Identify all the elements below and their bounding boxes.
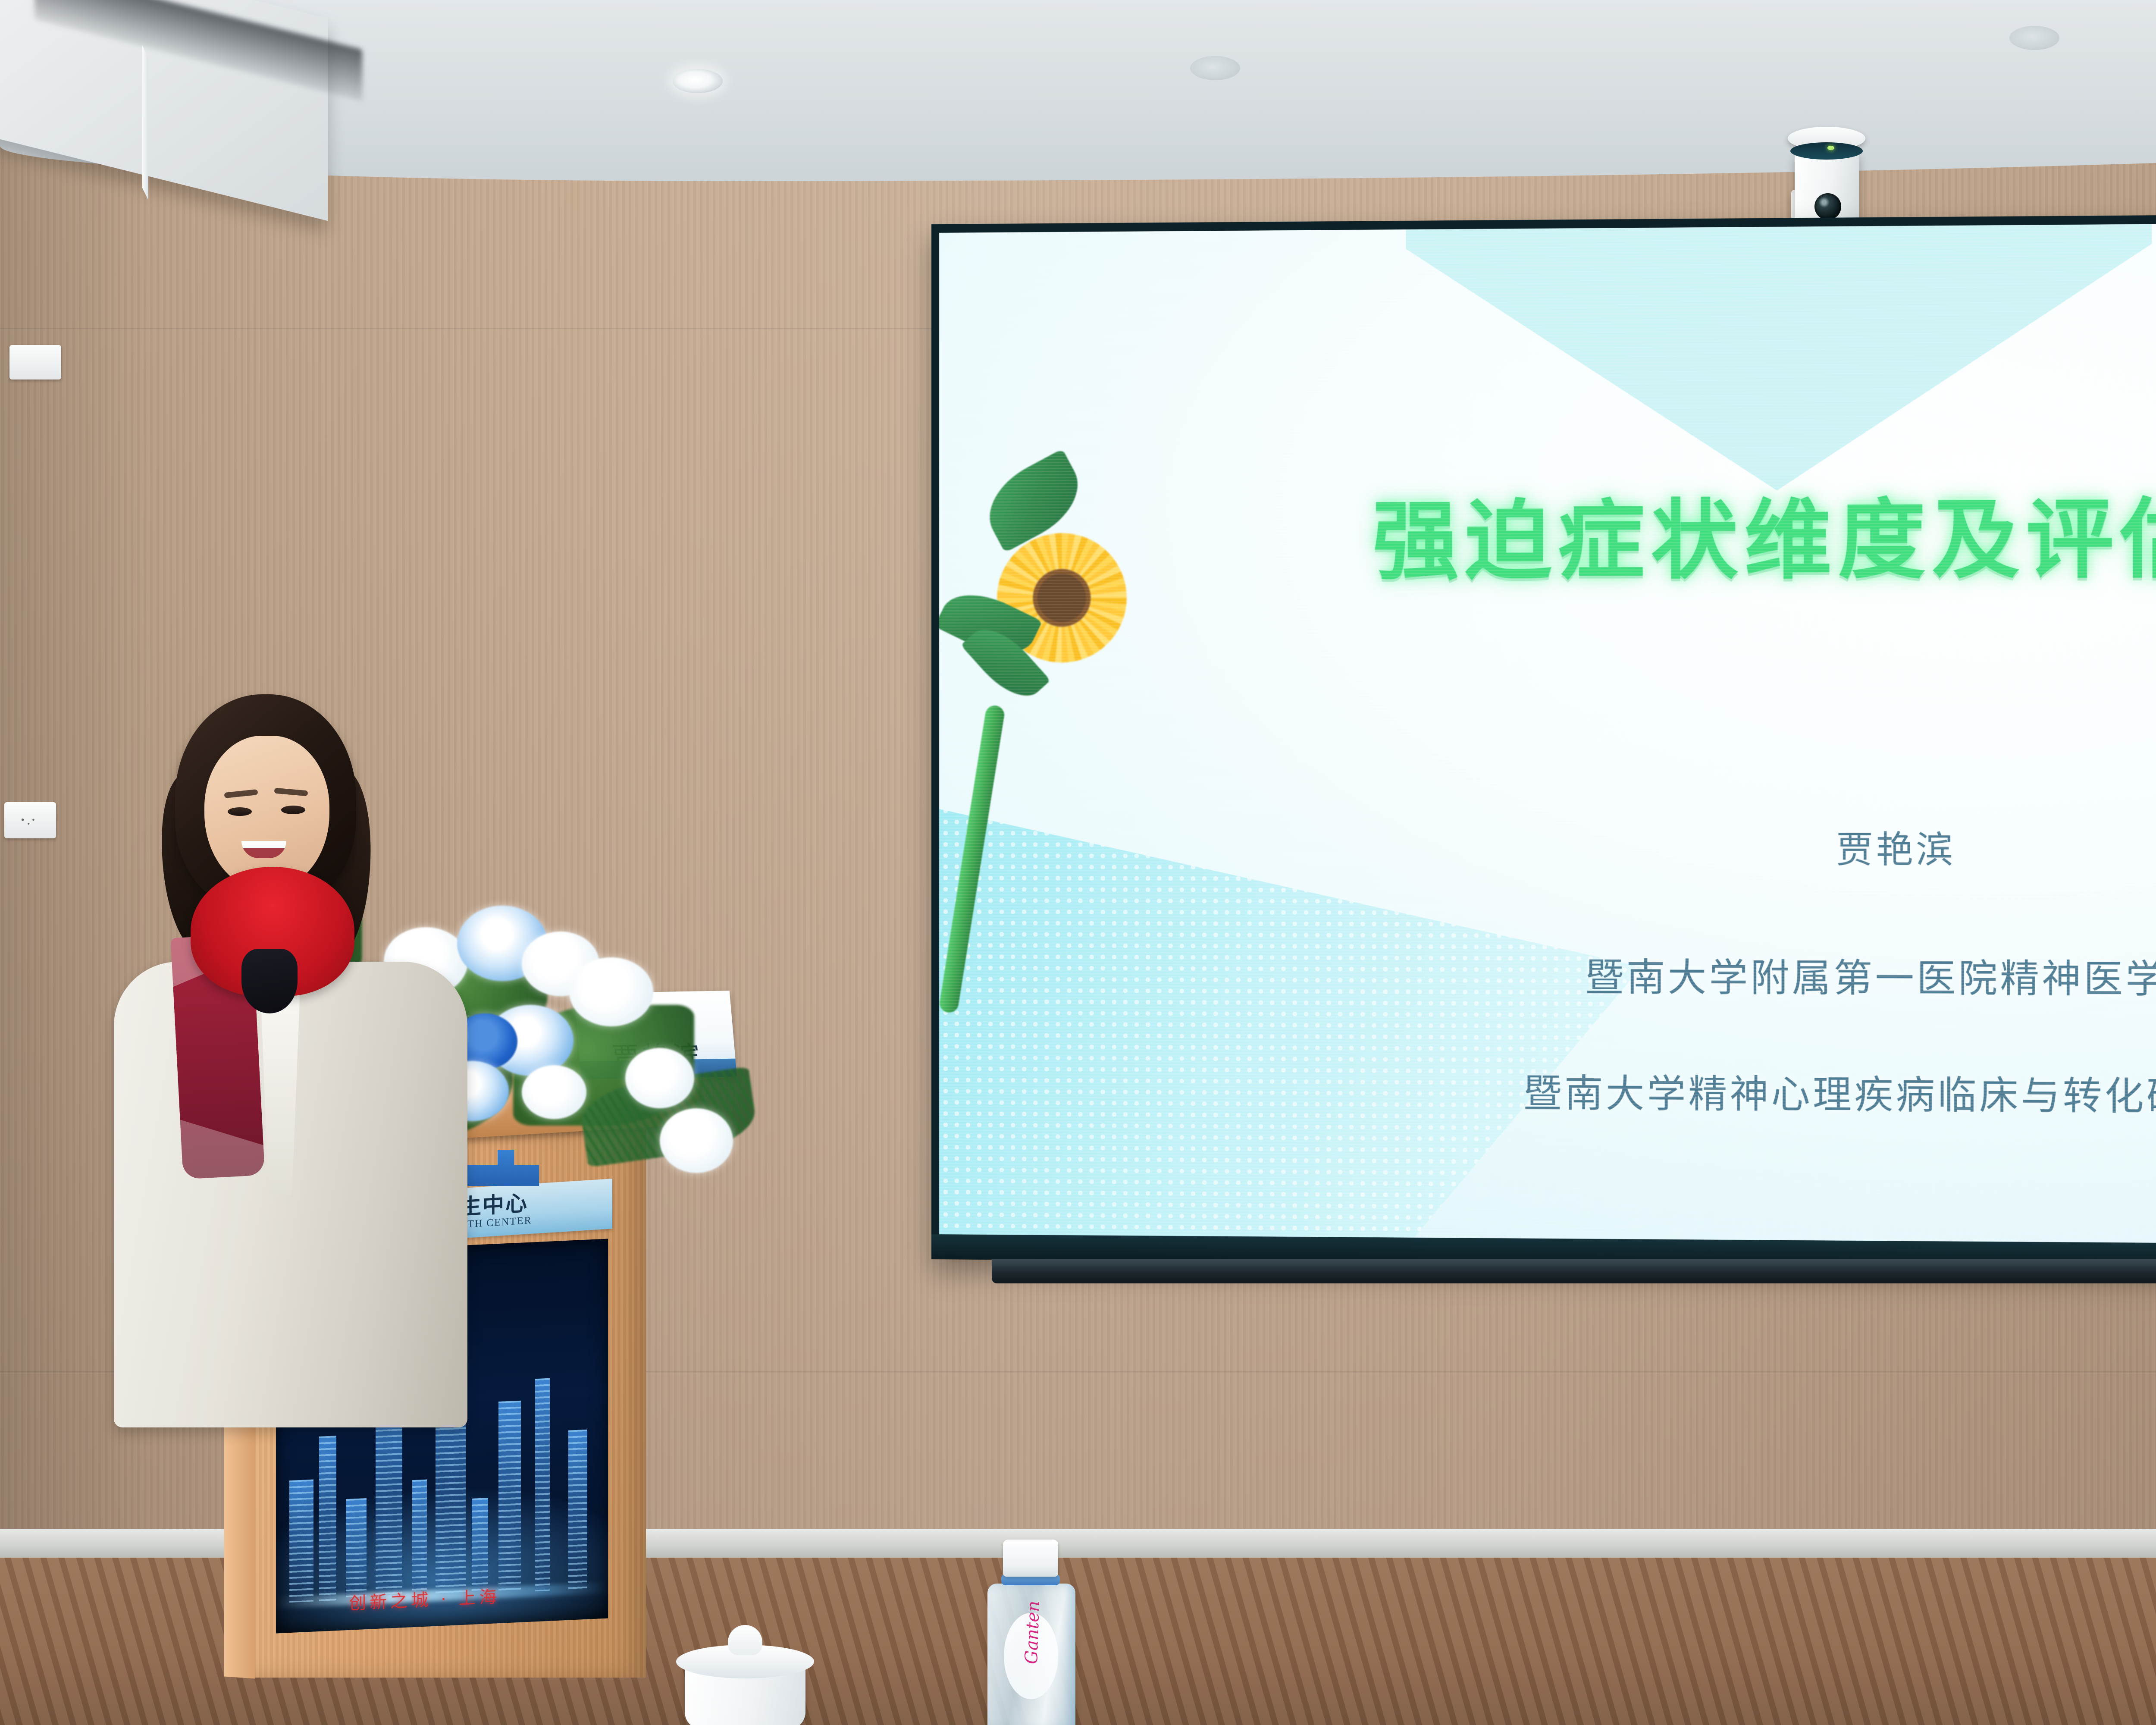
lecture-hall-photo: 强迫症状维度及评估 贾艳滨 暨南大学附属第一医院精神医学科 暨南大学精神心理疾病…: [0, 0, 2156, 1725]
bottle-cap: [1003, 1540, 1058, 1577]
projection-screen: 强迫症状维度及评估 贾艳滨 暨南大学附属第一医院精神医学科 暨南大学精神心理疾病…: [931, 212, 2156, 1272]
slide-surface: 强迫症状维度及评估 贾艳滨 暨南大学附属第一医院精神医学科 暨南大学精神心理疾病…: [939, 221, 2156, 1247]
screen-roller-housing: [992, 1259, 2156, 1283]
anthurium-bloom: [569, 957, 653, 1026]
ceiling-downlight: [2009, 26, 2059, 50]
slide-affiliation-line-1: 暨南大学附属第一医院精神医学科: [1238, 945, 2156, 1005]
slide-speaker-name: 贾艳滨: [1238, 819, 2156, 874]
skyline-tower: [319, 1436, 336, 1601]
socket-holes-icon: [17, 816, 44, 825]
bottle-brand-text: Ganten: [1022, 1612, 1043, 1665]
white-bloom: [522, 1065, 586, 1119]
teacup: [673, 1621, 819, 1725]
slide-title: 强迫症状维度及评估: [1373, 467, 2156, 596]
skyline-tower: [412, 1480, 427, 1597]
ceiling-downlight: [673, 69, 723, 93]
skyline-tower: [472, 1498, 488, 1594]
wall-outlet-plate-upper[interactable]: [9, 345, 61, 379]
wall-switch-plate-lower[interactable]: [4, 802, 56, 838]
water-bottle: Ganten: [970, 1540, 1100, 1725]
sunflower-left: [997, 533, 1127, 663]
skyline-tower: [535, 1378, 550, 1591]
camera-lens-icon: [1814, 193, 1841, 220]
presenter: [99, 694, 479, 1427]
skyline-tower: [498, 1401, 521, 1593]
presenter-eye: [281, 806, 305, 814]
teacup-knob: [728, 1625, 762, 1655]
slide-chevron-shape: [1406, 221, 2152, 492]
skyline-tower: [289, 1479, 313, 1603]
presenter-brow: [224, 789, 258, 798]
camera-led-icon: [1827, 146, 1834, 150]
skyline-tower: [346, 1498, 367, 1600]
presenter-scarf-knot: [241, 949, 298, 1013]
camera-ring: [1790, 142, 1863, 160]
presenter-brow: [274, 788, 308, 797]
ceiling-downlight: [1190, 56, 1240, 80]
slide-affiliation-line-2: 暨南大学精神心理疾病临床与转化研究所: [1238, 1061, 2156, 1123]
white-bloom: [660, 1108, 733, 1173]
presenter-eye: [228, 807, 252, 816]
skyline-tower: [568, 1430, 587, 1590]
white-bloom: [625, 1048, 694, 1108]
soffit-edge: [142, 46, 148, 201]
